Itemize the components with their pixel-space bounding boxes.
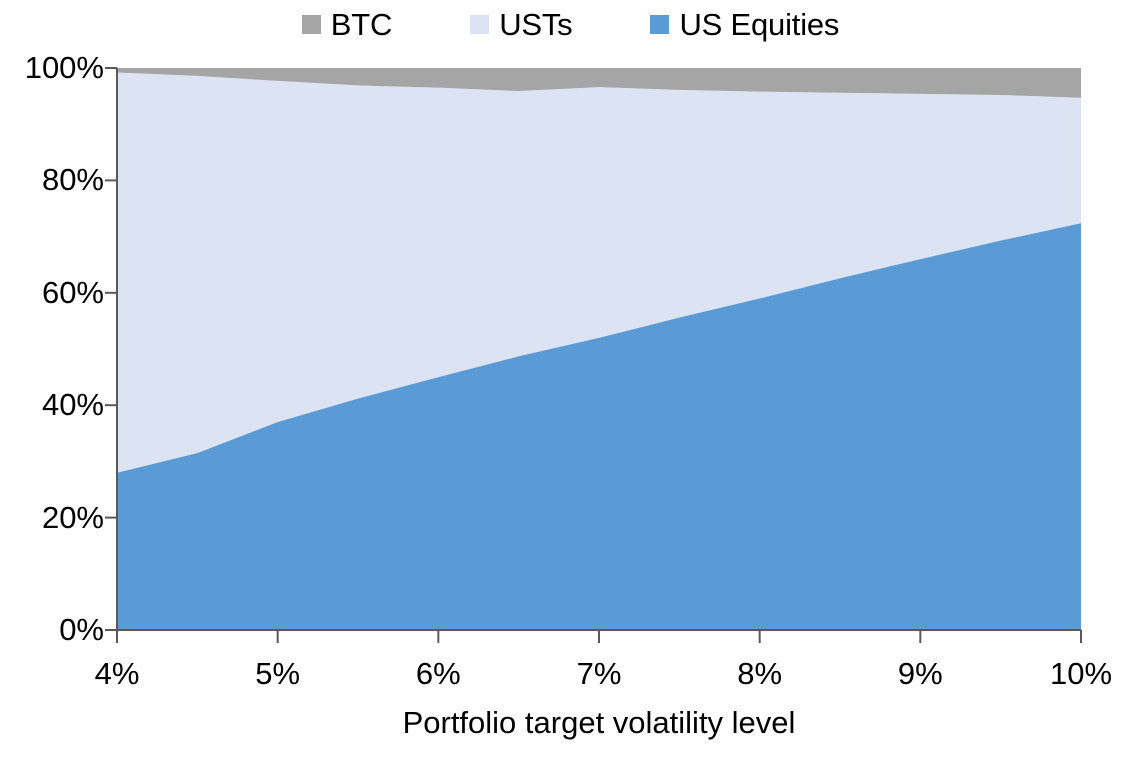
x-tick-label: 4%: [95, 658, 140, 689]
x-tick-label: 5%: [255, 658, 300, 689]
x-tick-label: 6%: [416, 658, 461, 689]
x-tick-label: 10%: [1050, 658, 1112, 689]
x-tick-label: 7%: [577, 658, 622, 689]
x-axis-title: Portfolio target volatility level: [117, 706, 1081, 740]
stacked-area-chart: BTC USTs US Equities 0%20%40%60%80%100% …: [0, 0, 1141, 763]
x-axis-labels: 4%5%6%7%8%9%10%: [0, 0, 1141, 763]
x-tick-label: 9%: [898, 658, 943, 689]
x-tick-label: 8%: [737, 658, 782, 689]
